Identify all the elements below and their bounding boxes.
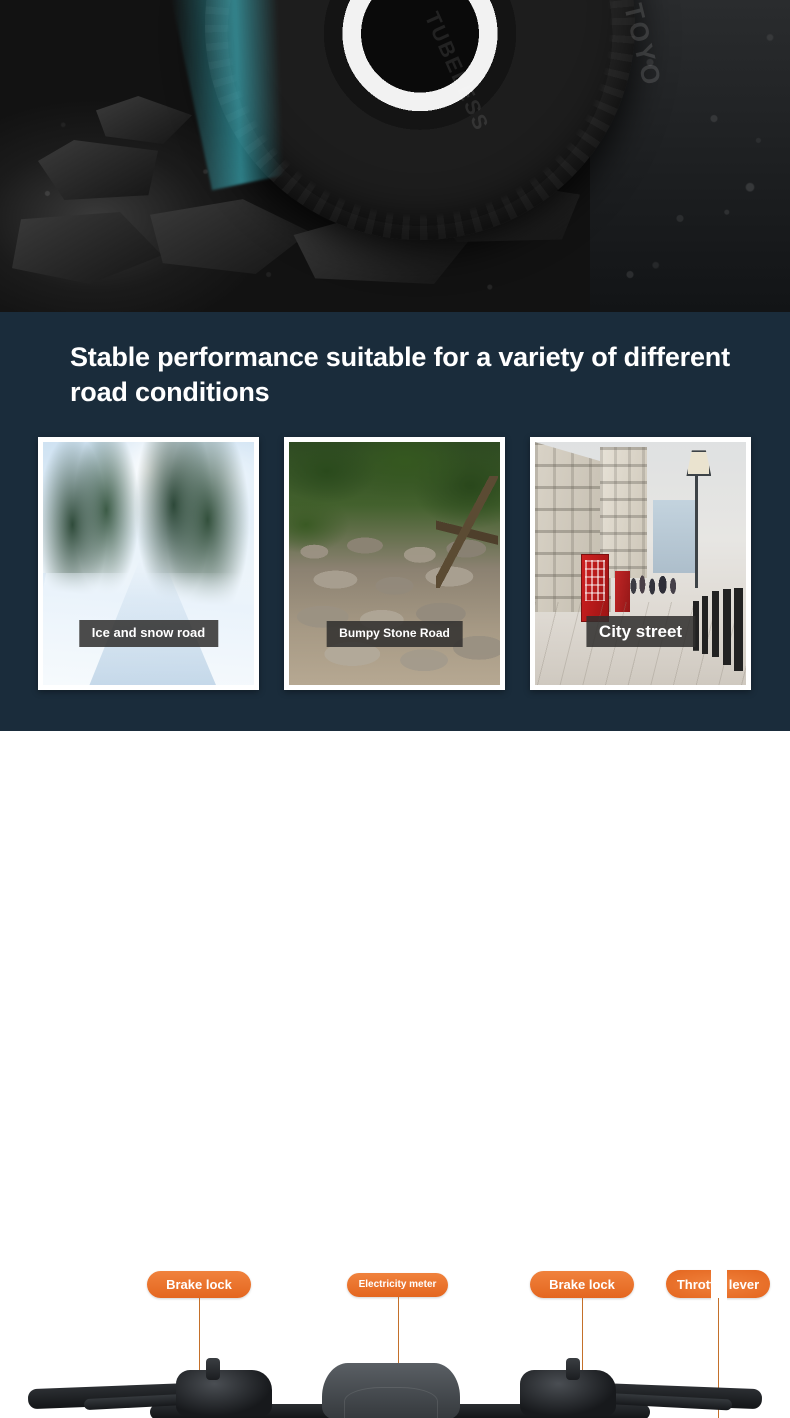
card-photo-stone: Bumpy Stone Road bbox=[289, 442, 500, 685]
handlebar-product-image bbox=[0, 1352, 790, 1418]
mirror-mount-left bbox=[206, 1358, 220, 1380]
card-label-stone: Bumpy Stone Road bbox=[326, 621, 463, 647]
card-label-snow: Ice and snow road bbox=[79, 620, 218, 647]
callout-pill-electricity-meter[interactable]: Electricity meter bbox=[347, 1273, 448, 1297]
road-condition-card-city[interactable]: City street bbox=[530, 437, 751, 690]
road-conditions-section: Stable performance suitable for a variet… bbox=[0, 312, 790, 731]
callout-occluder bbox=[711, 1264, 727, 1310]
road-condition-card-list: Ice and snow road Bumpy Stone Road bbox=[38, 437, 790, 690]
city-street-scene bbox=[535, 442, 746, 685]
street-lamp bbox=[695, 466, 698, 588]
control-cluster-left bbox=[176, 1370, 272, 1416]
card-photo-city: City street bbox=[535, 442, 746, 685]
card-label-city: City street bbox=[586, 616, 695, 648]
product-detail-page: TUBELESS TOYO Stable performance suitabl… bbox=[0, 0, 790, 1418]
pedestrians bbox=[628, 568, 683, 597]
building-right bbox=[653, 500, 695, 573]
hero-image-tire-on-rubble: TUBELESS TOYO bbox=[0, 0, 790, 312]
road-condition-card-stone[interactable]: Bumpy Stone Road bbox=[284, 437, 505, 690]
road-conditions-heading: Stable performance suitable for a variet… bbox=[70, 340, 730, 409]
wooden-railing bbox=[436, 476, 498, 588]
callout-pill-brake-lock-right[interactable]: Brake lock bbox=[530, 1271, 634, 1298]
mirror-mount-right bbox=[566, 1358, 580, 1380]
callout-pill-brake-lock-left[interactable]: Brake lock bbox=[147, 1271, 251, 1298]
black-bollards bbox=[691, 588, 746, 671]
display-console bbox=[322, 1363, 460, 1418]
card-photo-snow: Ice and snow road bbox=[43, 442, 254, 685]
road-condition-card-snow[interactable]: Ice and snow road bbox=[38, 437, 259, 690]
